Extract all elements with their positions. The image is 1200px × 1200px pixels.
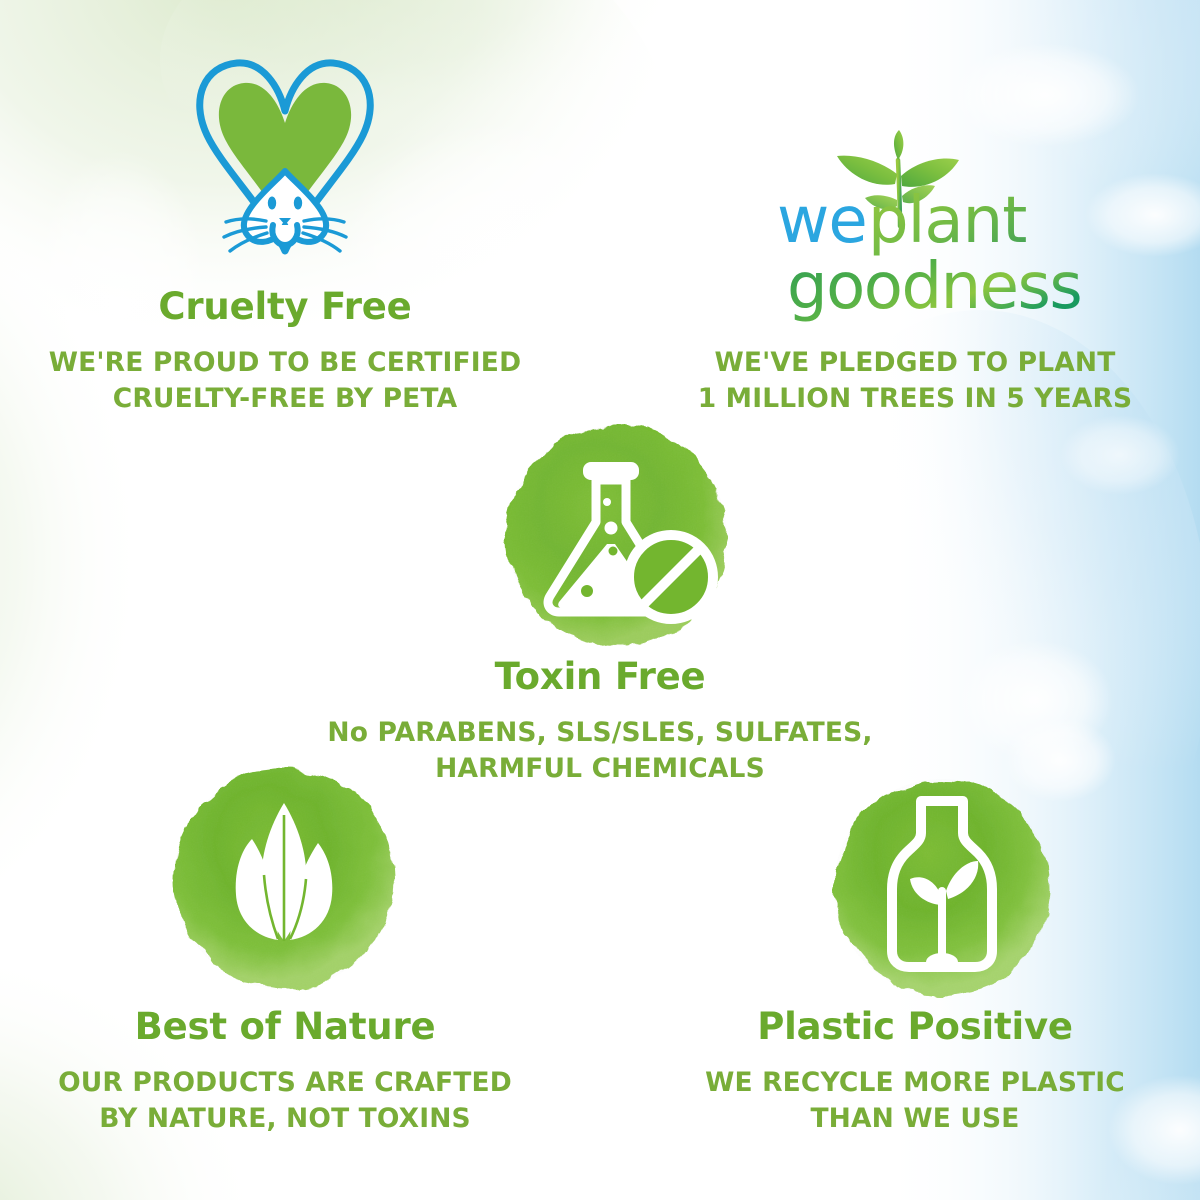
badge-heading-cruelty-free: Cruelty Free	[0, 285, 570, 328]
logo-word-goodness: goodness	[787, 250, 1081, 324]
badge-subtext-line: WE'VE PLEDGED TO PLANT	[630, 345, 1200, 381]
badge-subtext-line: BY NATURE, NOT TOXINS	[0, 1101, 570, 1137]
logo-word-plant: plant	[868, 184, 1026, 258]
badge-subtext-line: OUR PRODUCTS ARE CRAFTED	[0, 1065, 570, 1101]
badge-subtext-cruelty-free: WE'RE PROUD TO BE CERTIFIED CRUELTY-FREE…	[0, 345, 570, 417]
badge-heading-plastic-positive: Plastic Positive	[630, 1005, 1200, 1048]
prohibited-icon	[629, 535, 713, 619]
bunny-eye-right	[294, 197, 302, 210]
peta-bunny-logo	[174, 55, 396, 270]
badge-heading-best-of-nature: Best of Nature	[0, 1005, 570, 1048]
badge-subtext-plastic-positive: WE RECYCLE MORE PLASTIC THAN WE USE	[630, 1065, 1200, 1137]
badge-subtext-line: WE'RE PROUD TO BE CERTIFIED	[0, 345, 570, 381]
badge-heading-toxin-free: Toxin Free	[315, 655, 885, 698]
badge-subtext-we-plant-goodness: WE'VE PLEDGED TO PLANT 1 MILLION TREES I…	[630, 345, 1200, 417]
bottle-sprout-icon	[820, 765, 1070, 1015]
badge-subtext-best-of-nature: OUR PRODUCTS ARE CRAFTED BY NATURE, NOT …	[0, 1065, 570, 1137]
three-leaves-icon	[160, 755, 410, 1005]
flask-cap	[583, 462, 639, 480]
bunny-eye-left	[268, 197, 276, 210]
logo-word-we: we	[777, 184, 867, 258]
badge-subtext-line: No PARABENS, SLS/SLES, SULFATES,	[315, 715, 885, 751]
badge-subtext-line: 1 MILLION TREES IN 5 YEARS	[630, 381, 1200, 417]
we-plant-goodness-logo: we plant goodness	[775, 130, 1105, 330]
flask-no-toxins-icon	[495, 418, 745, 653]
badge-subtext-line: CRUELTY-FREE BY PETA	[0, 381, 570, 417]
badge-subtext-line: WE RECYCLE MORE PLASTIC	[630, 1065, 1200, 1101]
badge-subtext-line: THAN WE USE	[630, 1101, 1200, 1137]
